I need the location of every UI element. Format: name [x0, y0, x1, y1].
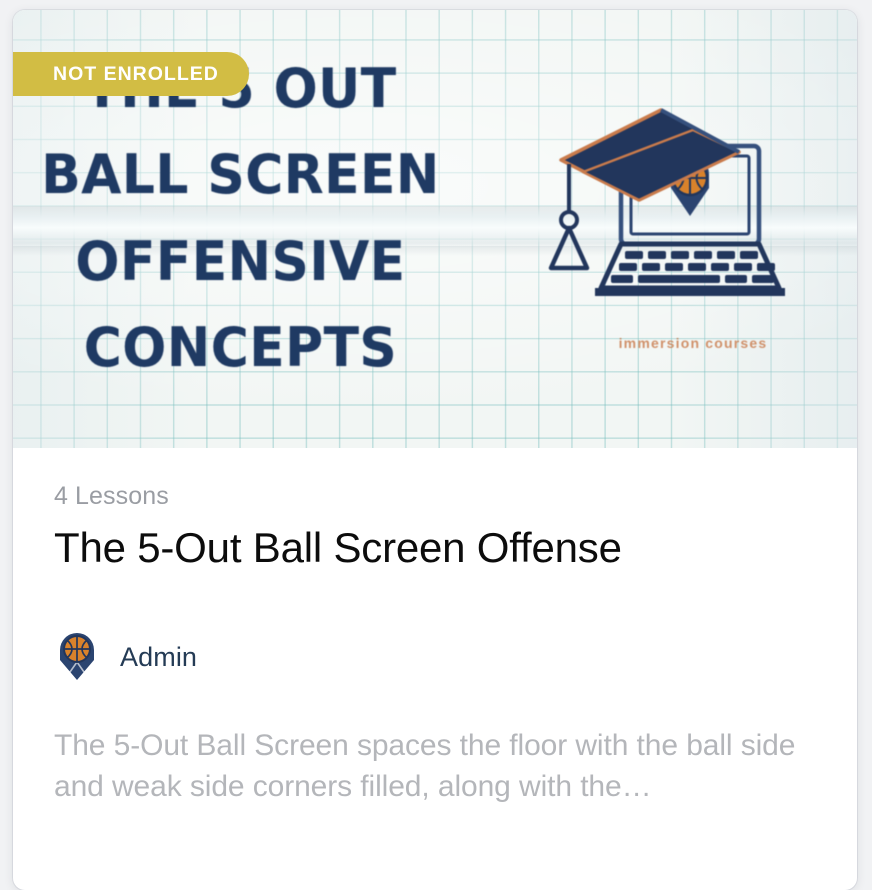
course-title[interactable]: The 5-Out Ball Screen Offense	[54, 525, 817, 570]
hero-headline-line-2: BALL SCREEN	[22, 148, 459, 201]
hero-headline-line-4: CONCEPTS	[22, 321, 459, 374]
avatar	[54, 632, 100, 682]
course-hero-image[interactable]: THE 5 OUT BALL SCREEN OFFENSIVE CONCEPTS	[13, 10, 857, 448]
logo-caption: immersion courses	[543, 335, 843, 351]
lesson-count: 4 Lessons	[54, 482, 817, 511]
course-body: 4 Lessons The 5-Out Ball Screen Offense …	[13, 448, 857, 808]
author-name: Admin	[120, 642, 197, 673]
immersion-courses-logo-icon	[543, 88, 843, 368]
hero-headline: THE 5 OUT BALL SCREEN OFFENSIVE CONCEPTS	[13, 62, 468, 375]
course-card[interactable]: THE 5 OUT BALL SCREEN OFFENSIVE CONCEPTS	[13, 10, 857, 890]
hero-headline-line-3: OFFENSIVE	[22, 235, 459, 288]
course-author[interactable]: Admin	[54, 632, 817, 682]
enrollment-status-badge: NOT ENROLLED	[13, 52, 249, 96]
course-description: The 5-Out Ball Screen spaces the floor w…	[54, 726, 814, 808]
